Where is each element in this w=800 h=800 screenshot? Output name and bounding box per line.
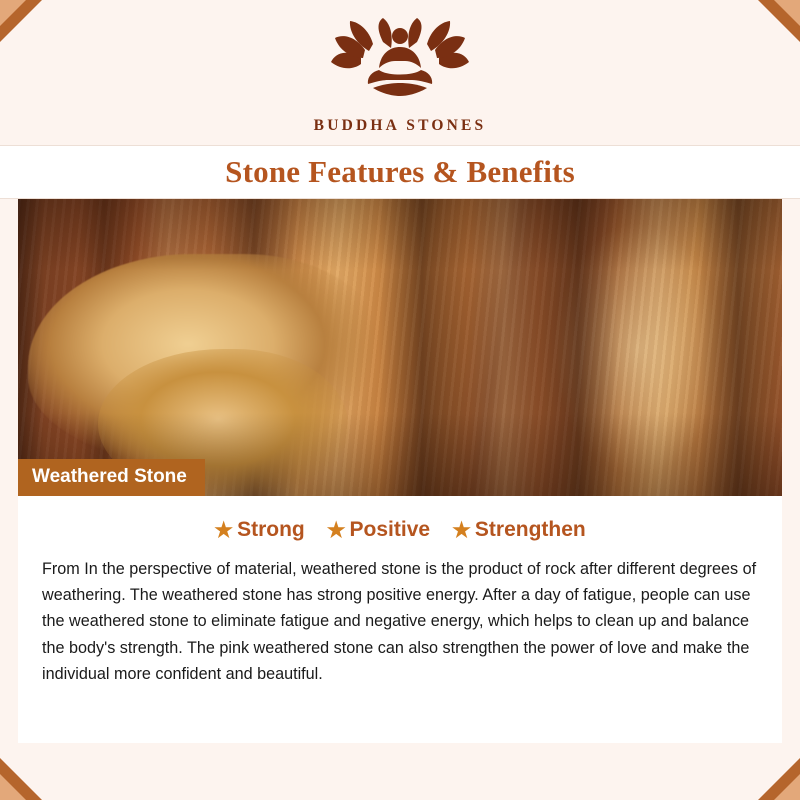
brand-name: BUDDHA STONES	[0, 117, 800, 135]
hero-image: Weathered Stone	[18, 199, 782, 496]
brand-header: BUDDHA STONES	[0, 0, 800, 135]
benefits-list: ★ Strong ★ Positive ★ Strengthen	[42, 518, 758, 542]
lotus-meditation-icon	[0, 18, 800, 113]
benefit-label: Strong	[237, 518, 305, 542]
star-icon: ★	[327, 520, 346, 541]
star-icon: ★	[452, 520, 471, 541]
infographic-page: BUDDHA STONES Stone Features & Benefits …	[0, 0, 800, 800]
benefit-item-positive: ★ Positive	[327, 518, 430, 542]
corner-decoration-bottom-right-inner	[774, 774, 800, 800]
benefit-label: Strengthen	[475, 518, 586, 542]
description-card: ★ Strong ★ Positive ★ Strengthen From In…	[18, 496, 782, 743]
description-text: From In the perspective of material, wea…	[42, 556, 758, 687]
benefit-label: Positive	[350, 518, 431, 542]
star-icon: ★	[214, 520, 233, 541]
benefit-item-strong: ★ Strong	[214, 518, 304, 542]
page-title: Stone Features & Benefits	[225, 154, 575, 190]
hero-photo-vignette	[18, 199, 782, 496]
stone-name-label: Weathered Stone	[18, 459, 205, 496]
title-banner: Stone Features & Benefits	[0, 145, 800, 199]
card-footer-spacer	[42, 687, 758, 717]
corner-decoration-bottom-left-inner	[0, 774, 26, 800]
benefit-item-strengthen: ★ Strengthen	[452, 518, 586, 542]
